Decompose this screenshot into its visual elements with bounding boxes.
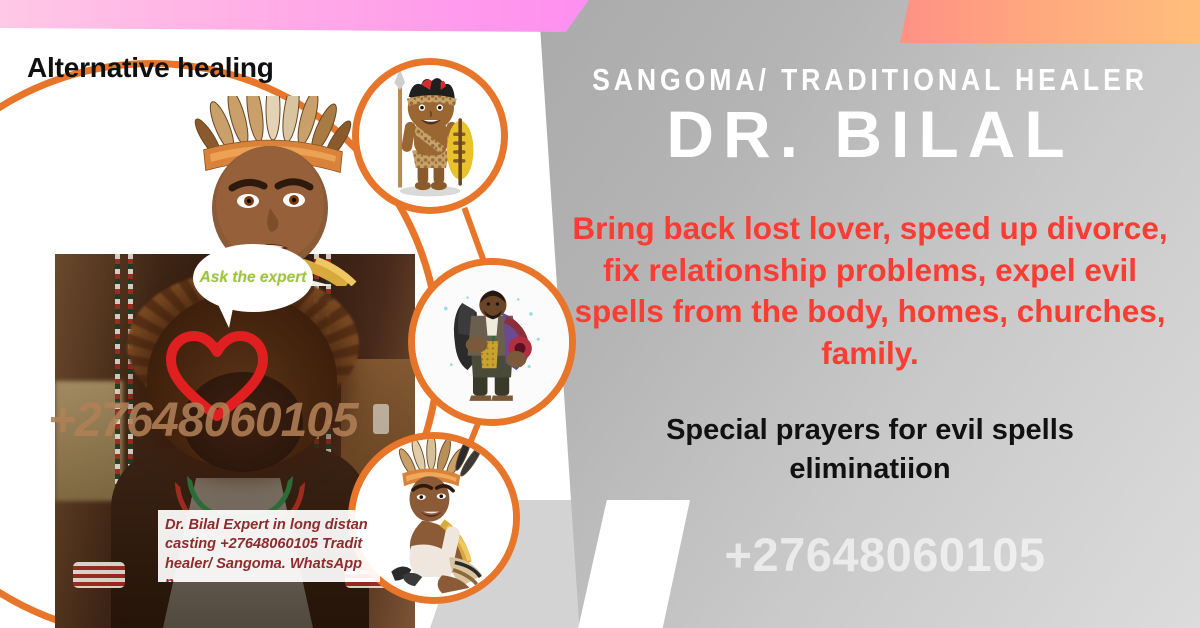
speech-bubble-text: Ask the expert: [200, 269, 307, 288]
services-description: Bring back lost lover, speed up divorce,…: [565, 208, 1175, 376]
photo-armband: [73, 562, 125, 588]
headline-doctor-name: DR. BILAL: [540, 100, 1200, 169]
badge-zulu-warrior: [352, 58, 508, 214]
special-prayers-text: Special prayers for evil spells eliminat…: [590, 411, 1150, 489]
ghost-phone-number: +27648060105: [595, 527, 1175, 582]
photo-watermark-phone: +27648060105: [48, 393, 448, 448]
right-content-column: SANGOMA/ TRADITIONAL HEALER DR. BILAL Br…: [540, 0, 1200, 628]
advertisement-poster: Alternative healing: [0, 0, 1200, 628]
photo-caption: Dr. Bilal Expert in long distan casting …: [158, 510, 380, 582]
kicker-text: SANGOMA/ TRADITIONAL HEALER: [586, 62, 1154, 98]
page-title: Alternative healing: [27, 52, 274, 84]
pink-accent-bar: [0, 0, 590, 32]
speech-bubble: Ask the expert: [193, 244, 313, 312]
